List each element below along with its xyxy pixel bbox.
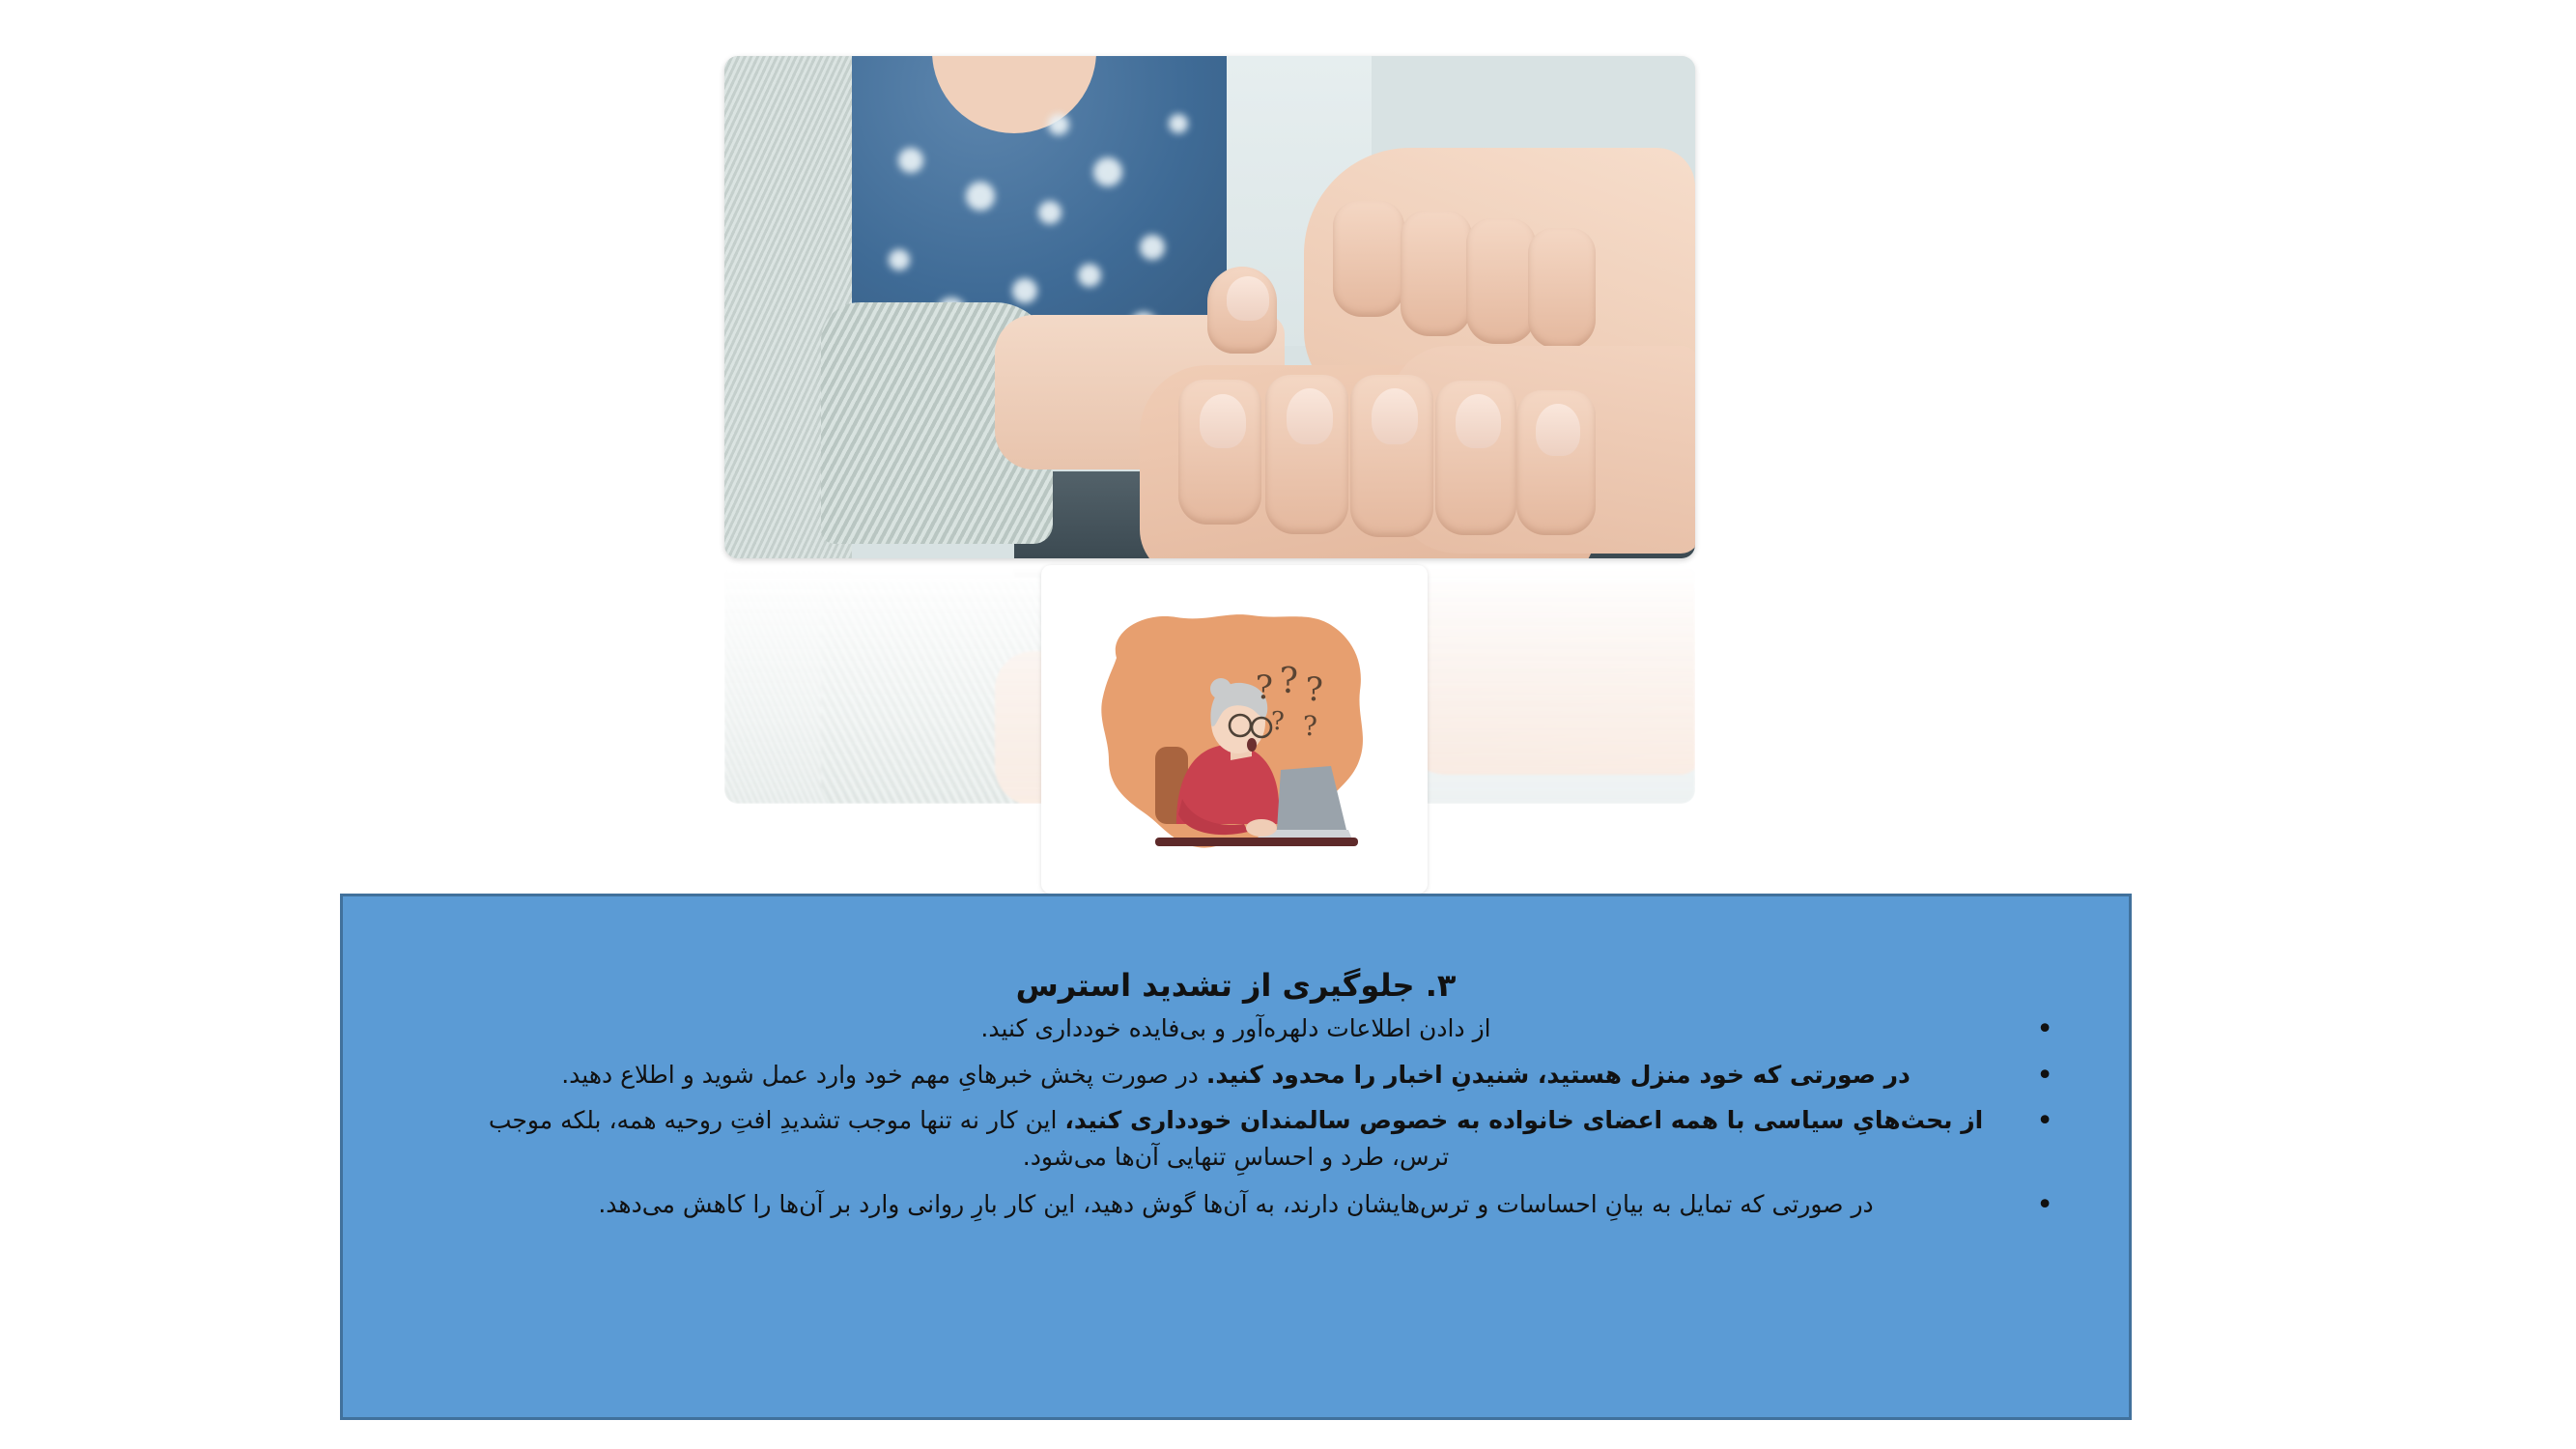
elderly-woman-at-laptop-illustration: ? ? ? ? ? [1041, 565, 1428, 894]
photo-artwork [724, 56, 1695, 558]
photo-fingernail [1200, 394, 1246, 448]
woman-mouth [1247, 738, 1257, 752]
bullet-item-3: از بحث‌هایِ سیاسی با همه اعضای خانواده ب… [401, 1102, 2071, 1175]
illustration-svg: ? ? ? ? ? [1041, 565, 1428, 894]
holding-hands-photo [724, 56, 1695, 558]
desk-surface [1155, 838, 1358, 846]
bullet-item-2: در صورتی که خود منزل هستید، شنیدنِ اخبار… [401, 1057, 2071, 1094]
bullet-item-2-text: در صورت پخش خبرهایِ مهم خود وارد عمل شوی… [561, 1061, 1206, 1089]
question-mark-icon: ? [1303, 710, 1317, 742]
woman-hair-bun [1210, 678, 1231, 699]
bullet-item-1: از دادن اطلاعات دلهره‌آور و بی‌فایده خود… [401, 1010, 2071, 1047]
photo-finger [1466, 218, 1536, 344]
content-box-title: ۳. جلوگیری از تشدید استرس [343, 966, 2129, 1005]
content-box: ۳. جلوگیری از تشدید استرس از دادن اطلاعا… [340, 894, 2132, 1420]
woman-hand [1246, 819, 1277, 837]
question-mark-icon: ? [1280, 662, 1298, 701]
question-mark-icon: ? [1271, 707, 1285, 736]
photo-finger [1333, 201, 1404, 317]
glasses-bridge [1251, 725, 1253, 726]
photo-finger [1528, 228, 1596, 349]
bullet-item-2-bold: در صورتی که خود منزل هستید، شنیدنِ اخبار… [1206, 1061, 1911, 1089]
photo-fingernail [1372, 388, 1418, 444]
question-mark-icon: ? [1256, 668, 1273, 707]
photo-finger [1401, 211, 1472, 336]
bullet-item-1-text: از دادن اطلاعات دلهره‌آور و بی‌فایده خود… [980, 1014, 1490, 1042]
question-mark-icon: ? [1306, 670, 1323, 709]
bullet-list: از دادن اطلاعات دلهره‌آور و بی‌فایده خود… [343, 1010, 2129, 1223]
bullet-item-4: در صورتی که تمایل به بیانِ احساسات و ترس… [401, 1186, 2071, 1223]
photo-fingernail [1536, 404, 1580, 456]
photo-thumbnail [1227, 276, 1269, 321]
photo-fingernail [1287, 388, 1333, 444]
photo-right-hand-reflection [1391, 567, 1695, 775]
slide-canvas: ? ? ? ? ? ۳. جلوگیری از تشدید استرس از د… [0, 0, 2576, 1449]
photo-fingernail [1456, 394, 1501, 448]
bullet-item-3-bold: از بحث‌هایِ سیاسی با همه اعضای خانواده ب… [1064, 1106, 1983, 1134]
holding-hands-photo-container [724, 56, 1695, 558]
bullet-item-4-text: در صورتی که تمایل به بیانِ احساسات و ترس… [598, 1190, 1873, 1218]
illustration-container: ? ? ? ? ? [1041, 565, 1428, 894]
